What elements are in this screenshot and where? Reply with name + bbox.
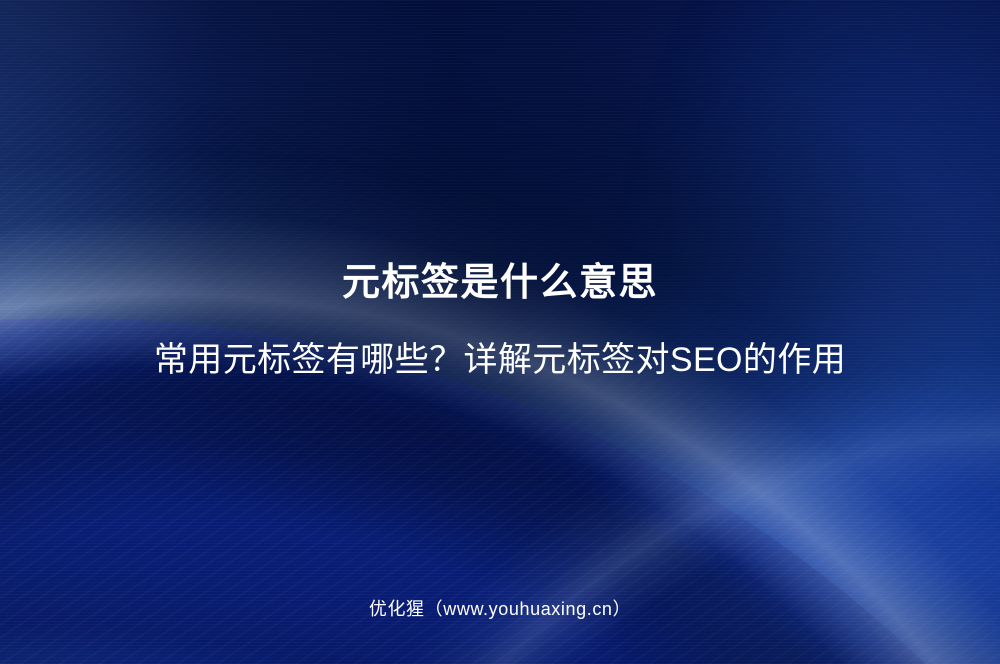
page-title: 元标签是什么意思 <box>0 262 1000 306</box>
banner-content: 元标签是什么意思 常用元标签有哪些？详解元标签对SEO的作用 优化猩（www.y… <box>0 0 1000 664</box>
page-subtitle: 常用元标签有哪些？详解元标签对SEO的作用 <box>0 340 1000 381</box>
banner-canvas: 元标签是什么意思 常用元标签有哪些？详解元标签对SEO的作用 优化猩（www.y… <box>0 0 1000 664</box>
site-attribution: 优化猩（www.youhuaxing.cn） <box>0 595 1000 621</box>
